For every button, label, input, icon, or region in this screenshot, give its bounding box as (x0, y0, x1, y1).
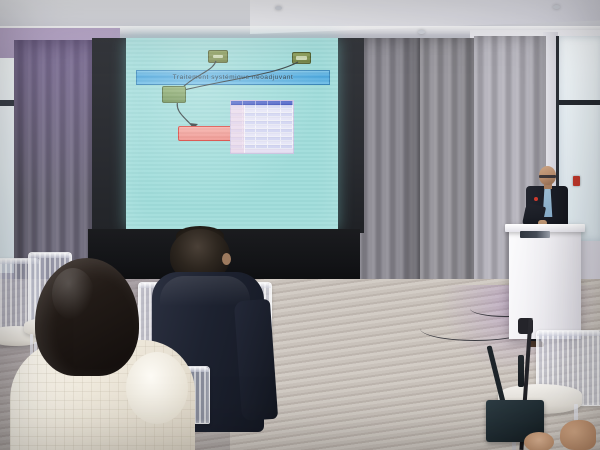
attendee-woman-shoulder (126, 352, 188, 424)
slide-node-red-outcome (178, 126, 234, 141)
node-chip-icon (296, 56, 306, 59)
stage-panel-right (336, 38, 364, 233)
projection-screen: Traitement systémique néoadjuvant (126, 38, 338, 230)
attendee-hand (560, 420, 596, 450)
recessed-spotlight (553, 5, 560, 9)
chair-crown (537, 331, 600, 336)
slide-node-green-branch (162, 86, 186, 103)
slide-title-bar: Traitement systémique néoadjuvant (136, 70, 330, 85)
fire-alarm-icon (573, 176, 580, 186)
eyeglasses-icon (539, 175, 556, 178)
chair-crown (29, 253, 71, 258)
lapel-pin-icon (534, 197, 538, 201)
conference-room-photo: Traitement systémique néoadjuvant (0, 0, 600, 450)
recessed-spotlight (418, 30, 425, 34)
node-chip-icon (213, 55, 224, 59)
right-window-mullion (558, 100, 600, 105)
slide-data-table (230, 100, 294, 154)
slide-title: Traitement systémique néoadjuvant (173, 74, 294, 81)
table-row-label-column (231, 105, 245, 153)
attendee-woman-hair-highlight (52, 268, 94, 320)
recessed-spotlight (275, 6, 282, 10)
attendee-hand (524, 432, 554, 450)
attendee-man-shoulder-highlight (160, 276, 250, 306)
stage-panel-left (92, 38, 128, 233)
slide-node-green-top-left (208, 50, 228, 63)
handbag-tassel (518, 355, 524, 387)
lectern-logo (520, 231, 550, 238)
attendee-man-ear (222, 253, 231, 265)
slide-node-green-top-right (292, 52, 311, 64)
